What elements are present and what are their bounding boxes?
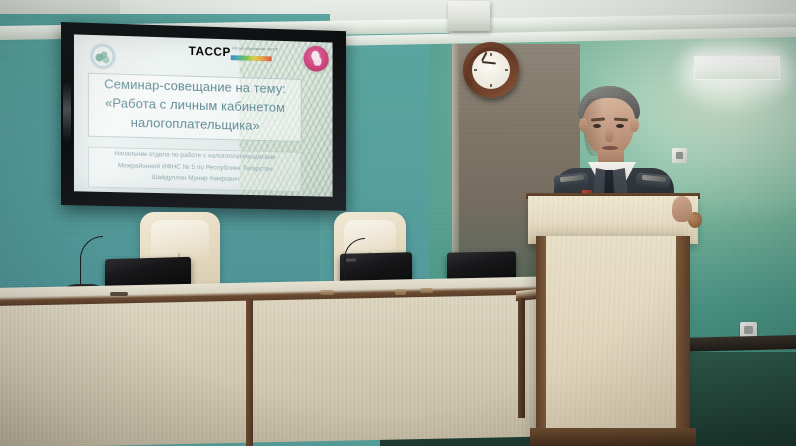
ceiling-speaker-icon [448,1,490,31]
presenter-hand [672,196,692,222]
podium-right-trim [676,236,690,446]
presenter-ear [579,118,588,132]
speaker-podium [536,236,690,446]
clock-tick [490,84,492,87]
screen-display-area: TACCP 100 лет образования ТАССР Семинар-… [74,34,333,196]
taccp-logo: TACCP 100 лет образования ТАССР [189,44,290,66]
projection-screen[interactable]: TACCP 100 лет образования ТАССР Семинар-… [61,22,346,211]
presenter-nose [605,128,613,142]
presenter-eye [616,124,624,128]
clock-tick [490,53,492,56]
conference-room-photo: TACCP 100 лет образования ТАССР Семинар-… [0,0,796,446]
presenter-ear [630,118,639,132]
taccp-color-bar [231,55,272,61]
presenter-eye [593,124,601,128]
eco-circle-logo-icon [86,41,120,72]
desk-item [420,288,433,293]
clock-tick [505,69,508,71]
desk-item [395,289,406,295]
podium-left-trim [536,236,546,446]
wall-sconce-light [694,56,780,80]
taccp-logo-subtext: 100 лет образования ТАССР [232,46,290,52]
screen-frame-highlight [63,82,71,142]
clock-tick [474,69,477,71]
slide-subtitle-box: Начальник отдела по работе с налогоплате… [88,147,302,192]
tatarstan-emblem-logo-icon [304,46,329,72]
wall-clock [463,42,519,98]
desk-item [320,290,334,295]
desk-panel-divider [246,300,253,446]
clock-face [472,51,510,89]
podium-base-trim [530,428,696,446]
desk-cable [110,292,128,296]
side-table-leg [518,298,525,418]
taccp-logo-text: TACCP [189,44,231,59]
desk-front-panel [0,294,554,446]
slide-title-box: Семинар-совещание на тему: «Работа с лич… [88,73,302,142]
